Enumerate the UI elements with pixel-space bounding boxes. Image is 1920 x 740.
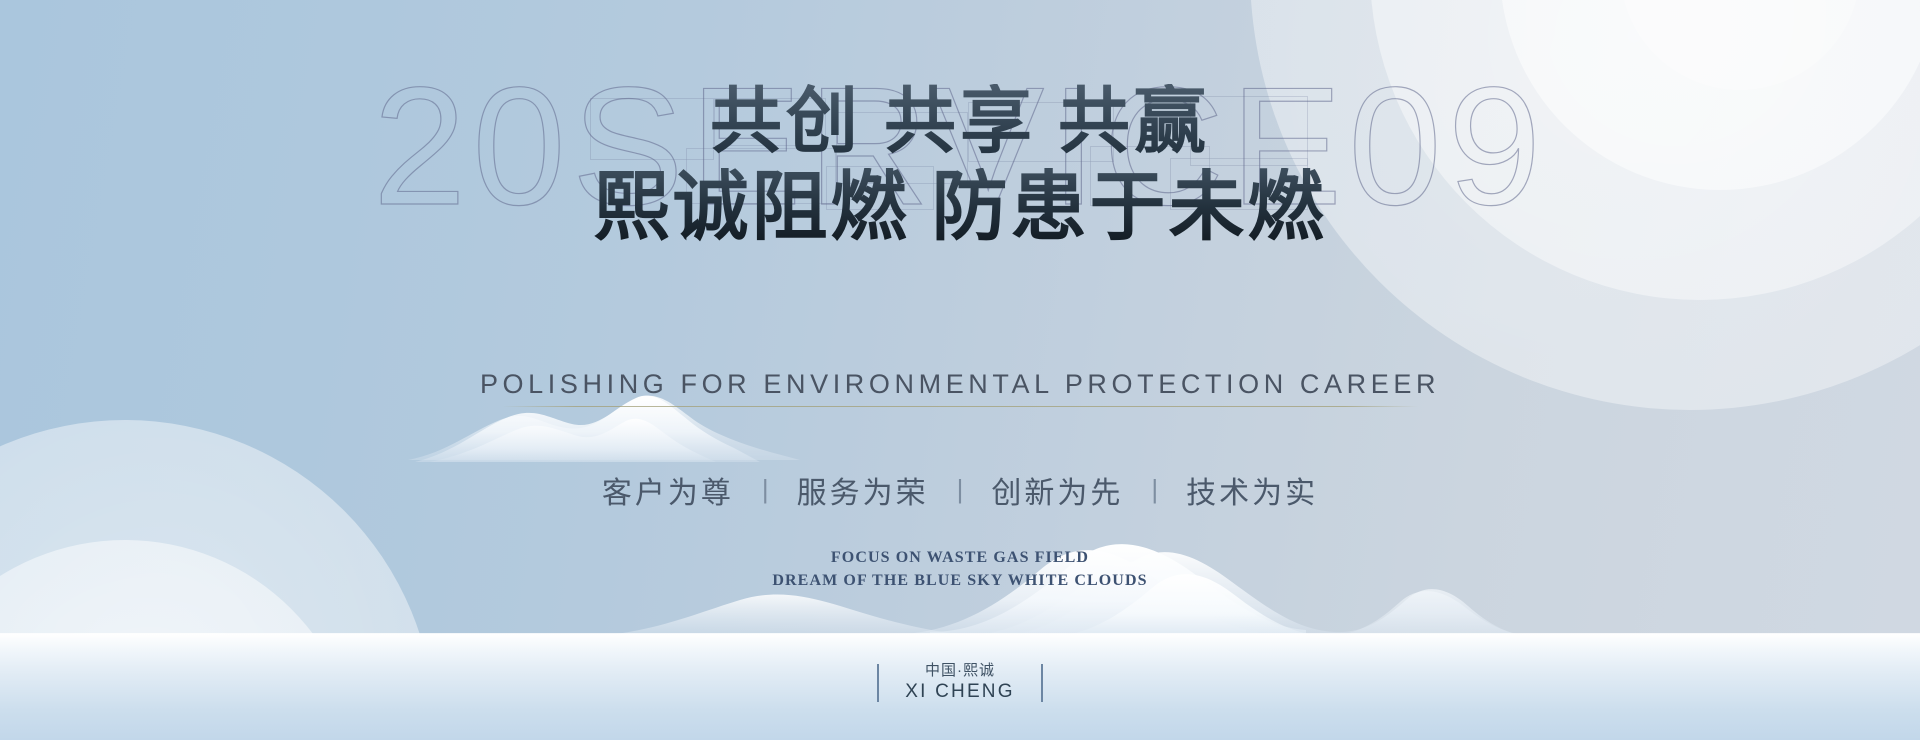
logo-right-bar (1041, 664, 1043, 702)
slogan-item-4: 技术为实 (1186, 468, 1318, 512)
slogan-separator-2: | (957, 474, 964, 505)
headline: 共创 共享 共赢 熙诚阻燃 防患于未燃 (0, 84, 1920, 249)
slogan-separator-3: | (1151, 474, 1158, 505)
logo-text-cn: 中国·熙诚 (905, 661, 1014, 680)
headline-line-1: 共创 共享 共赢 (0, 84, 1920, 160)
slogan-row: 客户为尊 | 服务为荣 | 创新为先 | 技术为实 (0, 468, 1920, 512)
slogan-item-3: 创新为先 (991, 468, 1123, 512)
micro-english-block: FOCUS ON WASTE GAS FIELD DREAM OF THE BL… (0, 546, 1920, 592)
subtitle-english: POLISHING FOR ENVIRONMENTAL PROTECTION C… (0, 369, 1920, 407)
hero-banner: 20SERVICE09 (0, 0, 1920, 740)
micro-english-line-2: DREAM OF THE BLUE SKY WHITE CLOUDS (0, 569, 1920, 592)
logo-text-en: XI CHENG (905, 680, 1014, 704)
slogan-item-1: 客户为尊 (602, 468, 734, 512)
micro-english-line-1: FOCUS ON WASTE GAS FIELD (0, 546, 1920, 569)
logo-text: 中国·熙诚 XI CHENG (905, 661, 1014, 705)
subtitle-underline (502, 406, 1418, 407)
subtitle-english-text: POLISHING FOR ENVIRONMENTAL PROTECTION C… (480, 369, 1440, 399)
logo-left-bar (877, 664, 879, 702)
slogan-item-2: 服务为荣 (797, 468, 929, 512)
slogan-separator-1: | (762, 474, 769, 505)
headline-line-2: 熙诚阻燃 防患于未燃 (0, 168, 1920, 249)
footer-logo: 中国·熙诚 XI CHENG (0, 661, 1920, 705)
